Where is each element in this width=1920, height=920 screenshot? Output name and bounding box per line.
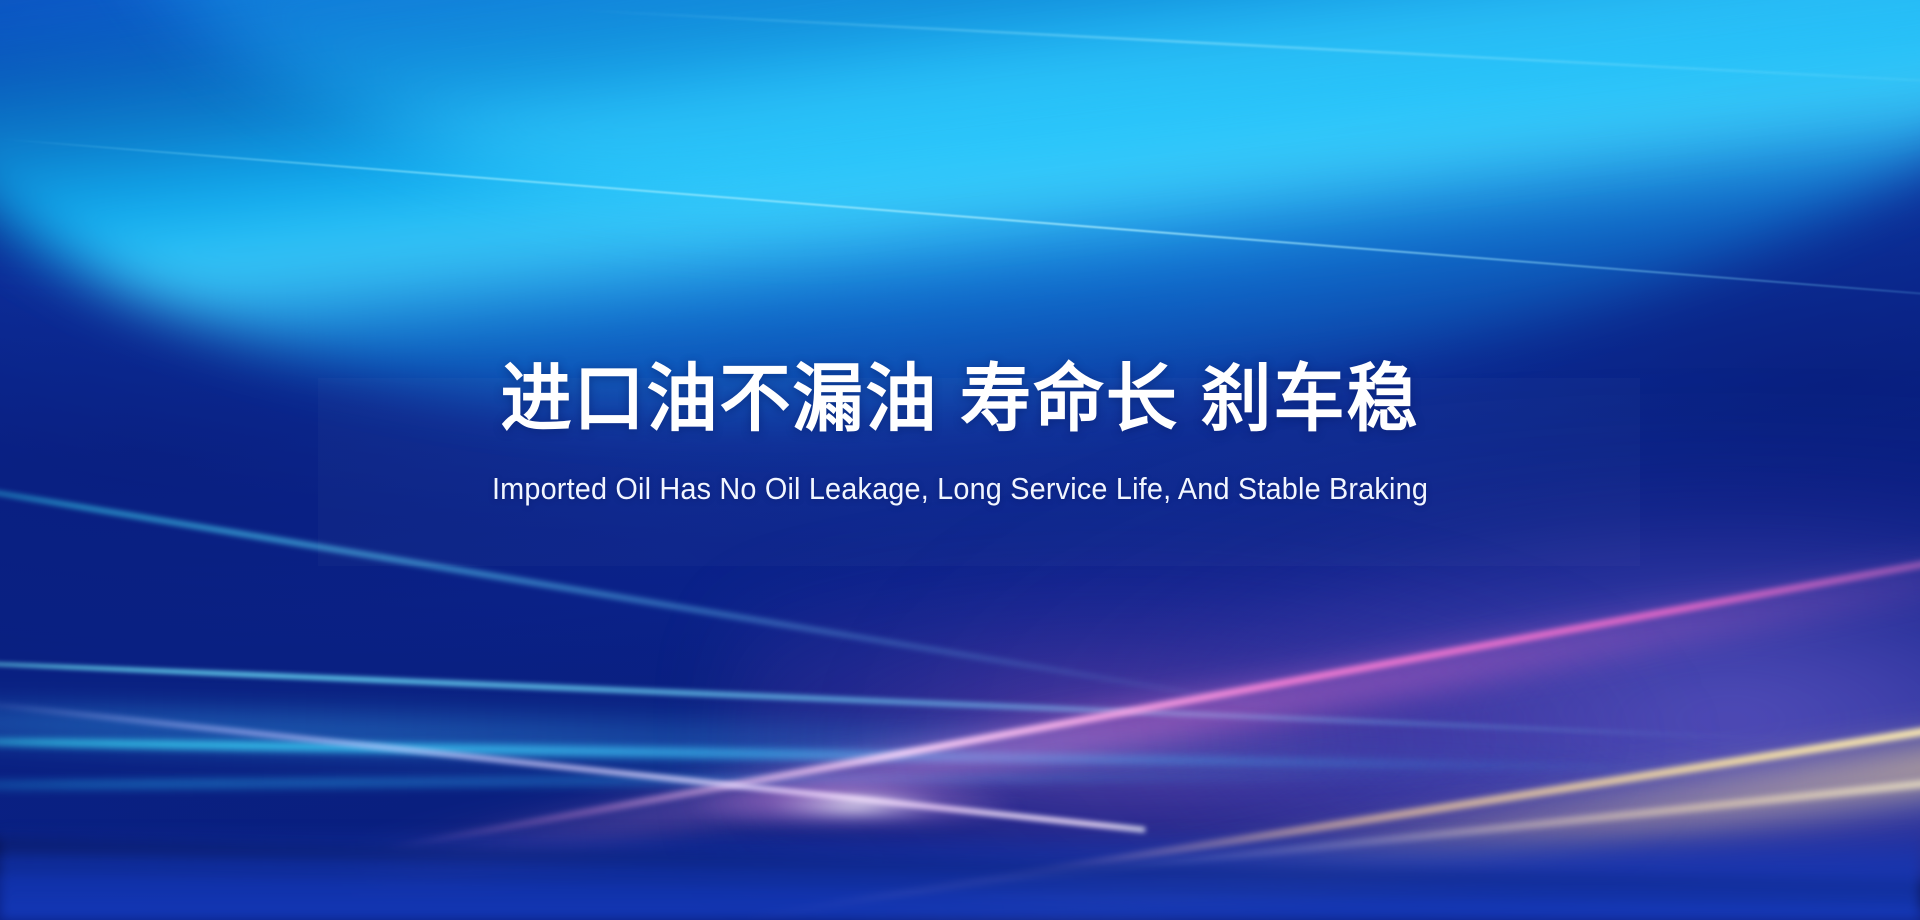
banner-subheadline: Imported Oil Has No Oil Leakage, Long Se… xyxy=(67,472,1853,506)
banner-headline: 进口油不漏油 寿命长 刹车稳 xyxy=(38,362,1881,436)
bottom-blue-glow xyxy=(0,828,1920,920)
hero-banner: 进口油不漏油 寿命长 刹车稳 Imported Oil Has No Oil L… xyxy=(0,0,1920,920)
banner-copy-block: 进口油不漏油 寿命长 刹车稳 Imported Oil Has No Oil L… xyxy=(0,362,1920,506)
beam-crossing-flare xyxy=(685,778,1025,832)
